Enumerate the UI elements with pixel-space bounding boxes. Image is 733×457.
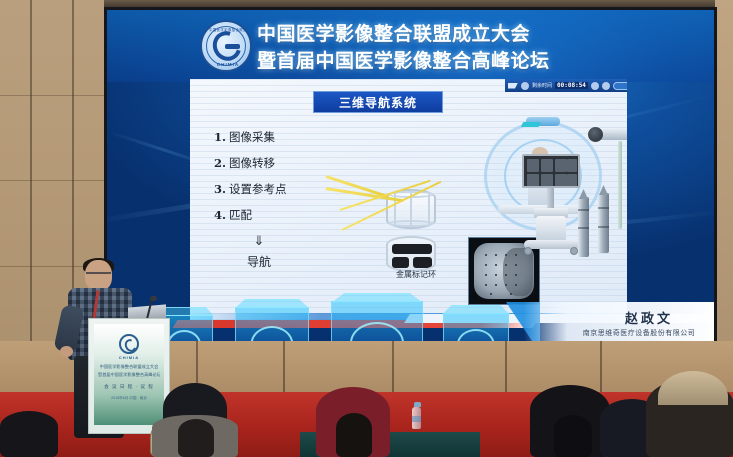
led-lower-graphic-band: 赵政文 南京思维奇医疗设备股份有限公司 — [107, 248, 717, 350]
surgical-instrument-figure — [598, 193, 609, 253]
led-display-wall: 中国医学影像整合联盟 CHIMIA 中国医学影像整合联盟成立大会 暨首届中国医学… — [104, 7, 717, 350]
audience-member-head — [336, 413, 372, 457]
podium-text-line-1: 中国医学影像整合联盟成立大会 — [98, 364, 160, 370]
step-number: 2. — [214, 156, 226, 170]
banner-title-line-2: 暨首届中国医学影像整合高峰论坛 — [257, 46, 707, 73]
audience-member-head — [178, 419, 214, 457]
step-label: 设置参考点 — [229, 182, 287, 196]
slide-title-text: 三维导航系统 — [339, 94, 417, 111]
logo-chinese-text: 中国医学影像整合联盟 — [202, 27, 254, 32]
step-label: 匹配 — [229, 208, 252, 222]
step-label: 图像采集 — [229, 130, 275, 144]
list-item: 3.设置参考点 — [214, 181, 324, 197]
conference-hall-photo: 中国医学影像整合联盟 CHIMIA 中国医学影像整合联盟成立大会 暨首届中国医学… — [0, 0, 733, 457]
wall-panel-right — [715, 0, 733, 390]
stage-panel-seam — [505, 341, 507, 399]
microphone-icon — [150, 296, 157, 301]
water-bottle — [412, 407, 421, 429]
step-number: 4. — [214, 208, 226, 222]
speaking-podium: CHIMIA 中国医学影像整合联盟成立大会 暨首届中国医学影像整合高峰论坛 会 … — [88, 318, 170, 434]
list-item: 4.匹配 — [214, 207, 324, 223]
down-arrow-glyph: ⇓ — [220, 233, 298, 249]
stage-panel-seam — [600, 341, 602, 399]
tracker-support-pole — [618, 141, 622, 229]
glasses-icon — [86, 272, 111, 278]
next-icon[interactable] — [602, 82, 610, 90]
presenter-name: 赵政文 — [584, 308, 714, 327]
podium-branding-panel: CHIMIA 中国医学影像整合联盟成立大会 暨首届中国医学影像整合高峰论坛 会 … — [94, 324, 164, 425]
wall-seam — [0, 95, 104, 96]
presentation-timer-bar[interactable]: 剩余时间 00:08:54 — [505, 79, 627, 92]
timer-value: 00:08:54 — [555, 82, 588, 89]
logo-acronym-text: CHIMIA — [202, 62, 254, 67]
podium-text-line-3: 会 议 日 程 · 议 程 — [98, 384, 160, 390]
banner-title-line-1: 中国医学影像整合联盟成立大会 — [257, 19, 707, 46]
step-label: 图像转移 — [229, 156, 275, 170]
prev-icon[interactable] — [591, 82, 599, 90]
presenter-hand — [60, 346, 73, 357]
audience-member-head — [554, 415, 592, 457]
flag-icon[interactable] — [508, 83, 518, 89]
conference-title-banner: 中国医学影像整合联盟 CHIMIA 中国医学影像整合联盟成立大会 暨首届中国医学… — [107, 10, 717, 82]
step-number: 1. — [214, 130, 226, 144]
podium-logo-word: CHIMIA — [94, 355, 164, 360]
podium-logo-icon — [119, 334, 139, 354]
chimia-logo-icon: 中国医学影像整合联盟 CHIMIA — [200, 20, 252, 72]
podium-text-line-4: 2018年6月 中国 · 南京 — [98, 396, 160, 401]
audience-member — [0, 411, 58, 457]
podium-text-line-2: 暨首届中国医学影像整合高峰论坛 — [98, 372, 160, 378]
toggle-pill-icon[interactable] — [613, 82, 627, 90]
stage-panel-seam — [392, 341, 394, 399]
presenter-company: 南京思维奇医疗设备股份有限公司 — [564, 328, 714, 338]
navigation-cart-figure — [520, 154, 584, 259]
wall-seam — [0, 180, 104, 181]
slide-title-box: 三维导航系统 — [313, 91, 443, 113]
list-item: 1.图像采集 — [214, 129, 324, 145]
list-item: 2.图像转移 — [214, 155, 324, 171]
stage-panel-seam — [283, 341, 285, 399]
teal-arrow-icon — [521, 122, 541, 127]
step-number: 3. — [214, 182, 226, 196]
remaining-time-label: 剩余时间 — [532, 82, 552, 89]
clock-icon[interactable] — [521, 82, 529, 90]
